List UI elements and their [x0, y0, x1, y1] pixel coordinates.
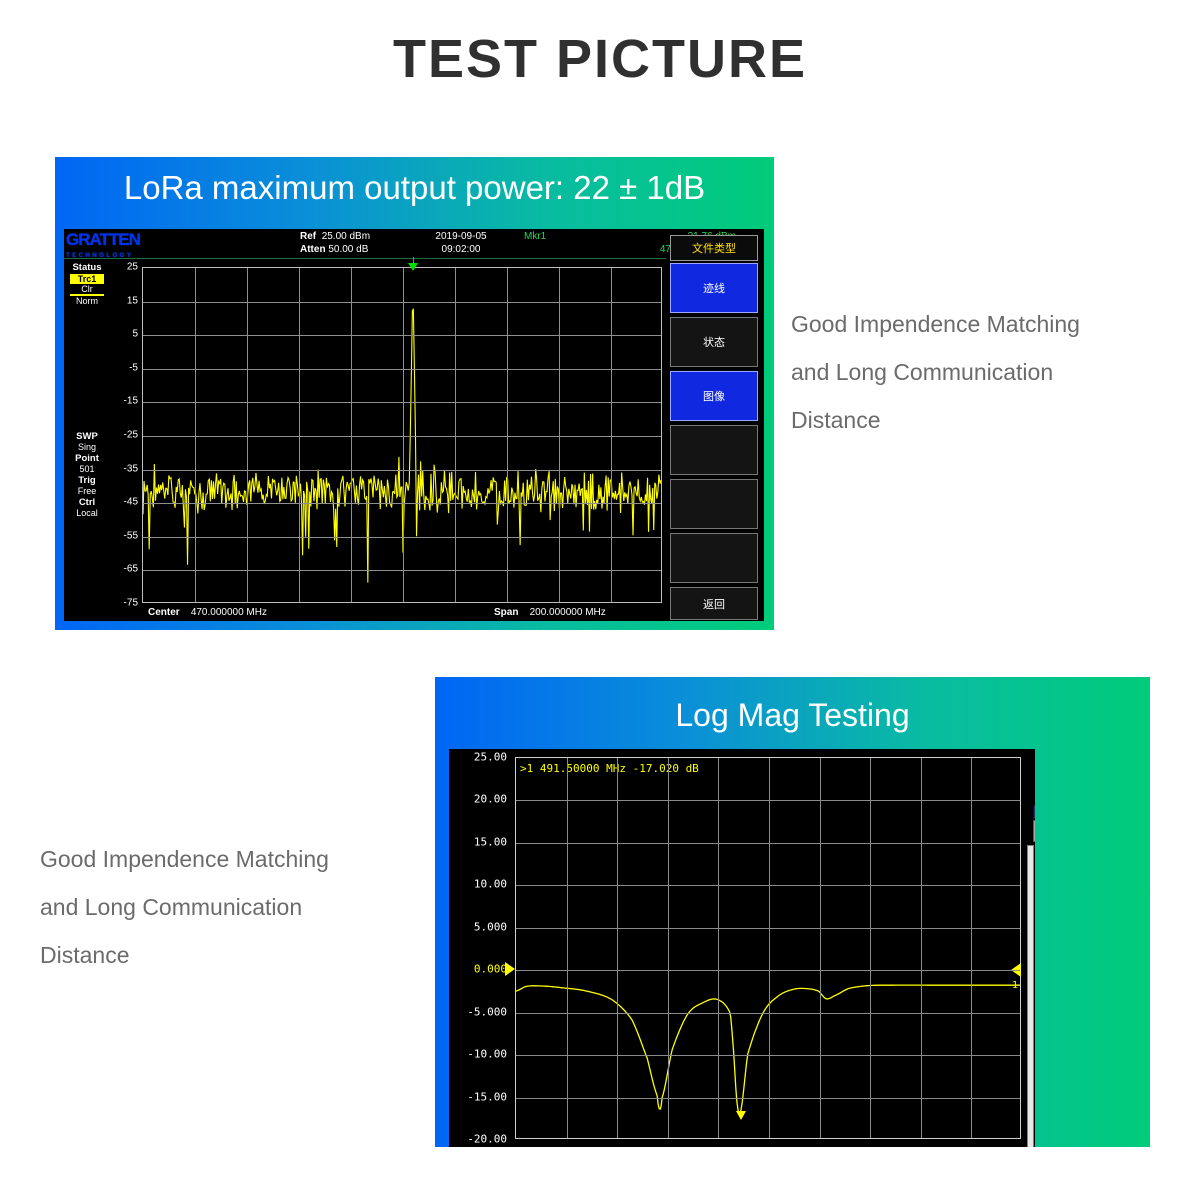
gridline-v: [668, 758, 669, 1138]
right-marker-number: 1: [1012, 980, 1018, 991]
logo-name: GRATTEN: [66, 230, 140, 249]
gridline-h: [143, 402, 661, 403]
gridline-h: [143, 570, 661, 571]
menu-scroll-up-button[interactable]: [1033, 820, 1035, 842]
gridline-v: [611, 268, 612, 602]
gridline-h: [143, 503, 661, 504]
trace-badge[interactable]: Trc1: [70, 274, 104, 284]
gridline-v: [403, 268, 404, 602]
spectrum-softkey-menu[interactable]: 文件类型迹线状态图像返回: [668, 229, 762, 620]
atten-label: Atten: [300, 244, 326, 255]
copy-block-left: Good Impendence Matching and Long Commun…: [40, 835, 440, 979]
copy1-line2: and Long Communication: [791, 348, 1191, 396]
copy2-line1: Good Impendence Matching: [40, 835, 440, 883]
copy2-line2: and Long Communication: [40, 883, 440, 931]
swp-value: Sing: [64, 442, 110, 452]
gridline-v: [507, 268, 508, 602]
gridline-h: [516, 1013, 1020, 1014]
span-readout: Span 200.000000 MHz: [494, 607, 606, 618]
network-analyzer-card: Log Mag Testing 25.0020.0015.0010.005.00…: [435, 677, 1150, 1147]
y-tick-label: -15.00: [467, 1090, 507, 1103]
gridline-h: [516, 800, 1020, 801]
y-tick-label: -10.00: [467, 1048, 507, 1061]
center-value: 470.000000 MHz: [191, 607, 267, 618]
copy1-line1: Good Impendence Matching: [791, 300, 1191, 348]
ref-atten-readout: Ref 25.00 dBm Atten 50.00 dB: [300, 230, 370, 256]
softkey-5[interactable]: [670, 479, 758, 529]
gridline-h: [516, 1098, 1020, 1099]
logmag-marker-icon: [736, 1111, 746, 1120]
y-tick-label: -45: [124, 497, 138, 508]
peak-marker-icon: [408, 263, 418, 271]
page-title: TEST PICTURE: [0, 28, 1200, 90]
logmag-marker-readout: >1 491.50000 MHz -17.020 dB: [520, 762, 699, 775]
span-value: 200.000000 MHz: [530, 607, 606, 618]
date-value: 2019-09-05: [416, 230, 506, 243]
softkey-2[interactable]: 状态: [670, 317, 758, 367]
y-tick-label: 0.000: [474, 963, 507, 976]
center-frequency-readout: Center 470.000000 MHz: [148, 607, 267, 618]
gridline-v: [559, 268, 560, 602]
spectrum-analyzer-card: LoRa maximum output power: 22 ± 1dB GRAT…: [55, 157, 774, 630]
point-label: Point: [64, 453, 110, 464]
trig-value: Free: [64, 486, 110, 496]
copy1-line3: Distance: [791, 396, 1191, 444]
softkey-4[interactable]: [670, 425, 758, 475]
gridline-v: [299, 268, 300, 602]
softkey-7[interactable]: 返回: [670, 587, 758, 620]
ctrl-label: Ctrl: [64, 497, 110, 508]
y-tick-label: -65: [124, 564, 138, 575]
y-tick-label: 25.00: [474, 751, 507, 764]
header-divider: [64, 258, 666, 259]
softkey-menu-title: 文件类型: [670, 235, 758, 261]
gridline-v: [820, 758, 821, 1138]
datetime-readout: 2019-09-05 09:02:00: [416, 230, 506, 256]
gridline-h: [143, 335, 661, 336]
span-label: Span: [494, 607, 518, 618]
menu-titlebar: [1033, 805, 1035, 819]
y-tick-label: 20.00: [474, 793, 507, 806]
center-label: Center: [148, 607, 180, 618]
softkey-1[interactable]: 迹线: [670, 263, 758, 313]
y-tick-label: -20.00: [467, 1133, 507, 1146]
y-tick-label: -5: [129, 362, 138, 373]
gridline-h: [143, 470, 661, 471]
clear-label[interactable]: Clr: [70, 284, 104, 296]
gridline-v: [567, 758, 568, 1138]
trig-label: Trig: [64, 475, 110, 486]
menu-scrollbar[interactable]: [1027, 845, 1034, 1147]
spectrum-y-axis: 25155-5-15-25-35-45-55-65-75: [110, 261, 140, 609]
printer-menu-panel[interactable]: PrintAbort PrintingPrinter Setup...Inver…: [1027, 805, 1035, 1147]
logmag-plot-area: >1 491.50000 MHz -17.020 dB 1: [515, 757, 1021, 1139]
norm-label: Norm: [64, 296, 110, 306]
time-value: 09:02:00: [416, 243, 506, 256]
y-tick-label: 5: [132, 329, 138, 340]
ref-label: Ref: [300, 231, 316, 242]
gridline-h: [516, 843, 1020, 844]
gridline-h: [143, 436, 661, 437]
y-tick-label: -75: [124, 598, 138, 609]
gridline-v: [617, 758, 618, 1138]
y-tick-label: -5.000: [467, 1005, 507, 1018]
gridline-v: [247, 268, 248, 602]
y-tick-label: -35: [124, 463, 138, 474]
softkey-6[interactable]: [670, 533, 758, 583]
reference-level-marker-icon: [505, 962, 515, 976]
card1-banner-title: LoRa maximum output power: 22 ± 1dB: [55, 169, 774, 207]
gridline-h: [516, 885, 1020, 886]
copy2-line3: Distance: [40, 931, 440, 979]
gridline-h: [516, 928, 1020, 929]
y-tick-label: 10.00: [474, 878, 507, 891]
gridline-h: [516, 970, 1020, 971]
copy-block-right: Good Impendence Matching and Long Commun…: [791, 300, 1191, 444]
gridline-h: [143, 369, 661, 370]
status-label: Status: [64, 262, 110, 273]
gridline-v: [870, 758, 871, 1138]
y-tick-label: 15: [127, 295, 138, 306]
y-tick-label: -55: [124, 530, 138, 541]
ctrl-value: Local: [64, 508, 110, 518]
network-analyzer-screen: 25.0020.0015.0010.005.0000.000-5.000-10.…: [449, 749, 1035, 1147]
gridline-v: [455, 268, 456, 602]
ref-value: 25.00 dBm: [322, 231, 370, 242]
gridline-v: [351, 268, 352, 602]
logmag-trace: [516, 758, 1020, 1138]
spectrum-trace: [143, 268, 661, 602]
gridline-v: [718, 758, 719, 1138]
gridline-h: [143, 537, 661, 538]
y-tick-label: -25: [124, 430, 138, 441]
gridline-v: [195, 268, 196, 602]
status-sidebar: Status Trc1 Clr Norm SWP Sing Point 501 …: [64, 261, 110, 518]
spectrum-plot-area: [142, 267, 662, 603]
gridline-h: [143, 302, 661, 303]
gridline-v: [769, 758, 770, 1138]
y-tick-label: 5.000: [474, 920, 507, 933]
point-value: 501: [64, 464, 110, 474]
gratten-logo: GRATTEN TECHNOLOGY: [66, 231, 170, 261]
gridline-h: [516, 1055, 1020, 1056]
gridline-v: [971, 758, 972, 1138]
atten-value: 50.00 dB: [328, 244, 368, 255]
logmag-y-axis: 25.0020.0015.0010.005.0000.000-5.000-10.…: [449, 749, 511, 1147]
gridline-v: [921, 758, 922, 1138]
y-tick-label: 25: [127, 262, 138, 273]
spectrum-analyzer-screen: GRATTEN TECHNOLOGY Ref 25.00 dBm Atten 5…: [64, 229, 764, 621]
softkey-3[interactable]: 图像: [670, 371, 758, 421]
y-tick-label: 15.00: [474, 835, 507, 848]
card2-banner-title: Log Mag Testing: [435, 697, 1150, 734]
swp-label: SWP: [64, 431, 110, 442]
y-tick-label: -15: [124, 396, 138, 407]
marker-label: Mkr1: [524, 230, 546, 243]
